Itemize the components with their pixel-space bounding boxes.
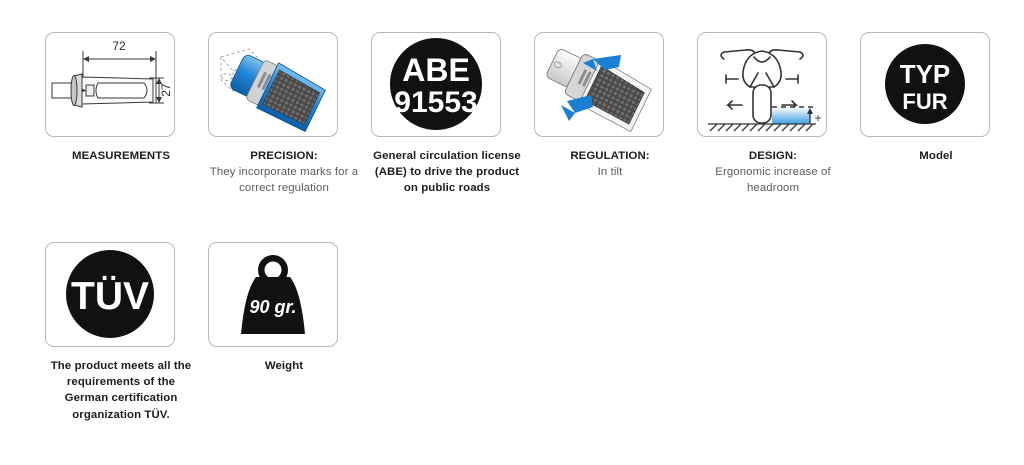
footpeg-dimensions-drawing-icon: 72 27: [46, 33, 174, 136]
caption-design: DESIGN: Ergonomic increase of headroom: [697, 148, 849, 197]
abe-badge-line1: ABE: [402, 52, 470, 88]
caption-tuv: The product meets all the requirements o…: [45, 358, 197, 423]
model-badge-line2: FUR: [902, 89, 947, 114]
feature-cell-model: TYP FUR Model: [860, 32, 990, 164]
feature-cell-tuv: TÜV The product meets all the requiremen…: [45, 242, 175, 423]
caption-body: In tilt: [598, 166, 623, 178]
caption-body: The product meets all the requirements o…: [51, 360, 191, 421]
feature-cell-regulation: REGULATION: In tilt: [534, 32, 664, 180]
abe-badge-line2: 91553: [394, 86, 477, 119]
caption-precision: PRECISION: They incorporate marks for a …: [208, 148, 360, 197]
caption-weight: Weight: [208, 358, 360, 374]
motorcycle-rear-headroom-icon: +: [698, 33, 826, 136]
caption-body: They incorporate marks for a correct reg…: [210, 166, 358, 194]
icon-card-model: TYP FUR: [860, 32, 990, 137]
caption-lead: REGULATION:: [570, 150, 649, 162]
tuv-certification-badge-icon: TÜV: [46, 243, 174, 346]
typ-fur-model-badge-icon: TYP FUR: [861, 33, 989, 136]
caption-lead: PRECISION:: [250, 150, 317, 162]
icon-card-abe: ABE 91553: [371, 32, 501, 137]
icon-card-tuv: TÜV: [45, 242, 175, 347]
icon-card-weight: 90 gr.: [208, 242, 338, 347]
feature-cell-abe: ABE 91553 General circulation license (A…: [371, 32, 501, 197]
caption-lead: DESIGN:: [749, 150, 797, 162]
feature-grid: 72 27 MEASUREMENTS: [0, 0, 1024, 465]
feature-cell-design: +: [697, 32, 827, 197]
footpeg-tilt-rotation-icon: [535, 33, 663, 136]
caption-abe: General circulation license (ABE) to dri…: [371, 148, 523, 197]
icon-card-precision: [208, 32, 338, 137]
caption-measurements: MEASUREMENTS: [45, 148, 197, 164]
weight-kettlebell-icon: 90 gr.: [209, 243, 337, 346]
abe-license-badge-icon: ABE 91553: [372, 33, 500, 136]
footpeg-precision-marks-icon: [209, 33, 337, 136]
feature-cell-weight: 90 gr. Weight: [208, 242, 338, 374]
caption-body: General circulation license (ABE) to dri…: [373, 150, 521, 194]
caption-model: Model: [860, 148, 1012, 164]
icon-card-regulation: [534, 32, 664, 137]
feature-cell-precision: PRECISION: They incorporate marks for a …: [208, 32, 338, 197]
headroom-plus-marker: +: [814, 111, 821, 125]
caption-regulation: REGULATION: In tilt: [534, 148, 686, 180]
feature-cell-measurements: 72 27 MEASUREMENTS: [45, 32, 175, 164]
caption-lead: Model: [919, 150, 952, 162]
icon-card-design: +: [697, 32, 827, 137]
dimension-label-width: 27: [159, 83, 173, 97]
icon-card-measurements: 72 27: [45, 32, 175, 137]
caption-body: Ergonomic increase of headroom: [715, 166, 830, 194]
dimension-label-length: 72: [112, 39, 126, 53]
caption-lead: Weight: [265, 360, 303, 372]
tuv-badge-text: TÜV: [71, 275, 149, 318]
weight-value-text: 90 gr.: [249, 297, 296, 317]
model-badge-line1: TYP: [900, 59, 951, 89]
caption-lead: MEASUREMENTS: [72, 150, 170, 162]
